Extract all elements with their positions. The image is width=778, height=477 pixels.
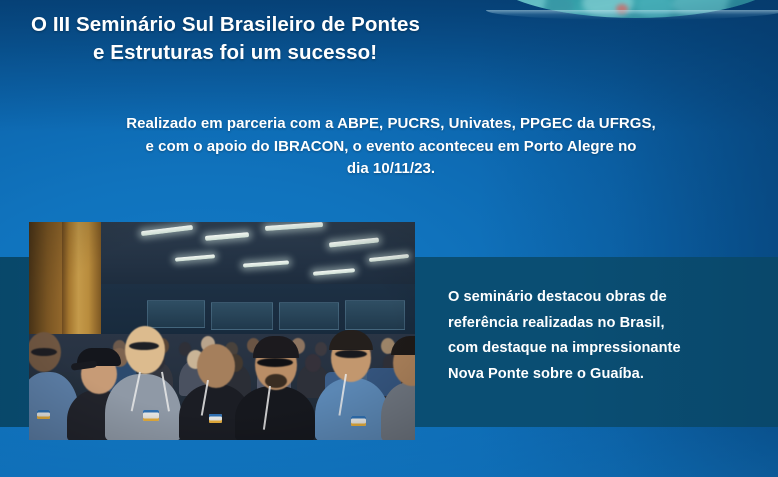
subtitle-line-2: e com o apoio do IBRACON, o evento acont…: [39, 136, 743, 159]
caption-text: O seminário destacou obras de referência…: [448, 285, 748, 387]
slide-root: O III Seminário Sul Brasileiro de Pontes…: [0, 0, 778, 477]
audience-photo: [29, 222, 415, 440]
subtitle-line-3: dia 10/11/23.: [39, 158, 743, 181]
caption-line-1: O seminário destacou obras de: [448, 285, 748, 311]
subtitle: Realizado em parceria com a ABPE, PUCRS,…: [39, 113, 743, 181]
page-title: O III Seminário Sul Brasileiro de Pontes…: [31, 11, 671, 67]
subtitle-line-1: Realizado em parceria com a ABPE, PUCRS,…: [39, 113, 743, 136]
caption-line-2: referência realizadas no Brasil,: [448, 311, 748, 337]
caption-line-3: com destaque na impressionante: [448, 336, 748, 362]
caption-line-4: Nova Ponte sobre o Guaíba.: [448, 362, 748, 388]
page-title-line-1: O III Seminário Sul Brasileiro de Pontes: [31, 11, 671, 39]
page-title-line-2: e Estruturas foi um sucesso!: [31, 39, 671, 67]
photo-vignette: [29, 222, 415, 440]
